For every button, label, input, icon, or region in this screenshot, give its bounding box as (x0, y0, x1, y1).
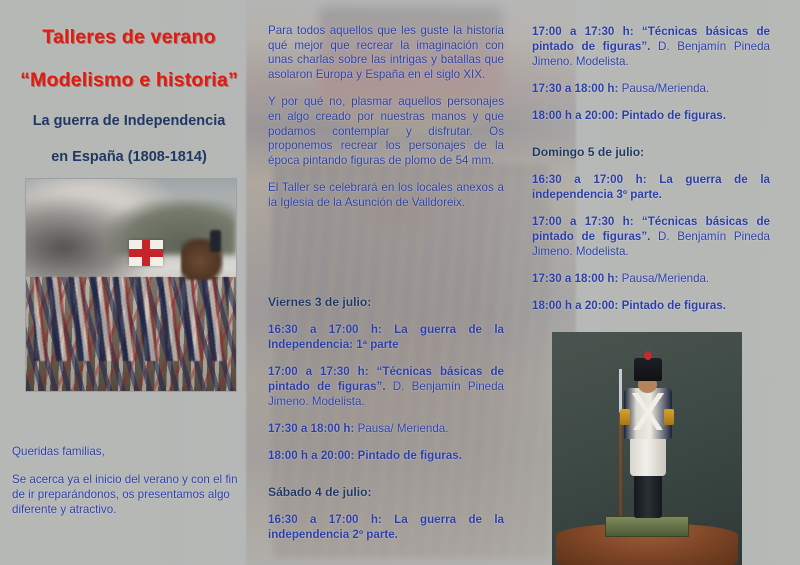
schedule-item-bold: 18:00 h a 20:00: Pintado de figuras. (532, 109, 726, 122)
figure-epaulette-right (664, 409, 674, 425)
figure-crossbelts (630, 393, 666, 430)
schedule-item-friday-1: 16:30 a 17:00 h: La guerra de la Indepen… (268, 322, 504, 352)
schedule-item-sunday-1: 16:30 a 17:00 h: La guerra de la indepen… (532, 172, 770, 202)
schedule-item-friday-3: 17:30 a 18:00 h: Pausa/ Merienda. (268, 421, 504, 436)
schedule-item-bold: 16:30 a 17:00 h: La guerra de la Indepen… (268, 323, 504, 351)
schedule-item-rest: Pausa/Merienda. (618, 82, 709, 95)
schedule-item-saturday-4: 18:00 h a 20:00: Pintado de figuras. (532, 108, 770, 123)
painted-miniature-soldier-photo (552, 332, 742, 565)
letter-body: Se acerca ya el inicio del verano y con … (12, 472, 242, 517)
schedule-item-bold: 18:00 h a 20:00: Pintado de figuras. (532, 299, 726, 312)
schedule-gap (532, 135, 770, 145)
schedule-item-bold: 18:00 h a 20:00: Pintado de figuras. (268, 449, 462, 462)
schedule-item-saturday-2: 17:00 a 17:30 h: “Técnicas básicas de pi… (532, 24, 770, 69)
figure-shako (634, 358, 663, 381)
intro-paragraph-3: El Taller se celebrará en los locales an… (268, 181, 504, 210)
painting-horse-rider (181, 238, 223, 280)
schedule-column-middle: Viernes 3 de julio: 16:30 a 17:00 h: La … (268, 295, 504, 554)
schedule-item-bold: 17:30 a 18:00 h: (532, 82, 618, 95)
figure-grass-plinth (605, 516, 689, 537)
figure-musket (619, 369, 622, 518)
schedule-item-rest: Pausa/Merienda. (618, 272, 709, 285)
painting-burgundy-cross-flag (129, 240, 163, 266)
schedule-gap (268, 475, 504, 485)
schedule-item-saturday-3: 17:30 a 18:00 h: Pausa/Merienda. (532, 81, 770, 96)
poster-subtitle-line2: en España (1808-1814) (0, 149, 258, 165)
schedule-item-bold: 16:30 a 17:00 h: La guerra de la indepen… (532, 173, 770, 201)
intro-column: Para todos aquellos que les guste la his… (268, 24, 504, 224)
figure-epaulette-left (620, 409, 630, 425)
schedule-item-saturday-1: 16:30 a 17:00 h: La guerra de la indepen… (268, 512, 504, 542)
day-heading-saturday: Sábado 4 de julio: (268, 485, 504, 499)
schedule-item-bold: 17:30 a 18:00 h: (268, 422, 354, 435)
title-block: Talleres de verano “Modelismo e historia… (0, 26, 258, 165)
poster-title-line2: “Modelismo e historia” (0, 69, 258, 92)
battle-scene-painting (25, 178, 237, 392)
schedule-item-friday-2: 17:00 a 17:30 h: “Técnicas básicas de pi… (268, 364, 504, 409)
schedule-item-sunday-2: 17:00 a 17:30 h: “Técnicas básicas de pi… (532, 214, 770, 259)
schedule-item-rest: Pausa/ Merienda. (354, 422, 448, 435)
intro-paragraph-1: Para todos aquellos que les guste la his… (268, 24, 504, 82)
day-heading-sunday: Domingo 5 de julio: (532, 145, 770, 159)
schedule-item-sunday-3: 17:30 a 18:00 h: Pausa/Merienda. (532, 271, 770, 286)
schedule-item-sunday-4: 18:00 h a 20:00: Pintado de figuras. (532, 298, 770, 313)
schedule-column-right: 17:00 a 17:30 h: “Técnicas básicas de pi… (532, 24, 770, 325)
poster-title-line1: Talleres de verano (0, 26, 258, 49)
day-heading-friday: Viernes 3 de julio: (268, 295, 504, 309)
schedule-item-friday-4: 18:00 h a 20:00: Pintado de figuras. (268, 448, 504, 463)
poster-canvas: Talleres de verano “Modelismo e historia… (0, 0, 800, 565)
schedule-item-bold: 17:30 a 18:00 h: (532, 272, 618, 285)
painting-troops (34, 277, 227, 362)
poster-subtitle-line1: La guerra de Independencia (0, 113, 258, 129)
figure-shako-pompom (644, 351, 652, 360)
letter-greeting: Queridas familias, (12, 444, 242, 459)
schedule-item-bold: 16:30 a 17:00 h: La guerra de la indepen… (268, 513, 504, 541)
letter-column: Queridas familias, Se acerca ya el inici… (12, 444, 242, 530)
intro-paragraph-2: Y por qué no, plasmar aquellos personaje… (268, 95, 504, 168)
